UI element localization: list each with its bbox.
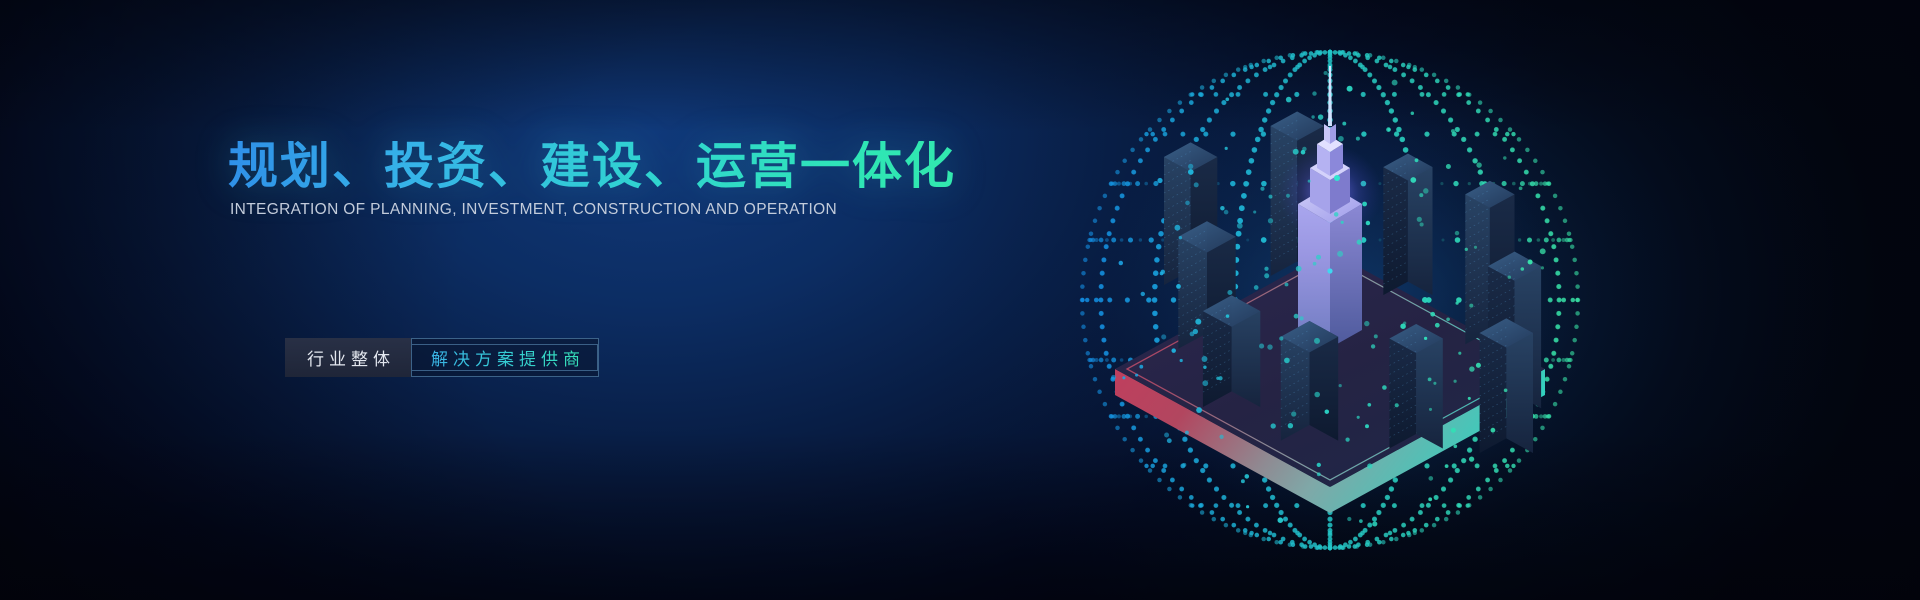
hero-text-block: 规划、投资、建设、运营一体化 INTEGRATION OF PLANNING, … — [228, 0, 1048, 600]
particle-dot — [1519, 186, 1523, 190]
particle-dot — [1284, 358, 1290, 364]
tower-face-right — [1330, 204, 1362, 348]
particle-dot — [1122, 376, 1125, 379]
particle-dot — [1269, 195, 1273, 199]
particle-dot — [1314, 338, 1320, 344]
particle-dot — [1302, 147, 1306, 151]
particle-dot — [1417, 217, 1422, 222]
particle-dot — [1196, 407, 1202, 413]
particle-dot — [1400, 323, 1406, 329]
particle-dot — [1227, 290, 1232, 295]
hero-banner: 规划、投资、建设、运营一体化 INTEGRATION OF PLANNING, … — [0, 0, 1920, 600]
tower-window-light — [1327, 268, 1332, 273]
particle-dot — [1423, 188, 1428, 193]
particle-dot — [1171, 348, 1176, 353]
particle-dot — [1279, 336, 1283, 340]
particle-dot — [1237, 223, 1243, 229]
particle-dot — [1469, 456, 1474, 461]
particle-dot — [1188, 164, 1193, 169]
particle-dot — [1194, 182, 1199, 187]
particle-dot — [1188, 169, 1194, 175]
particle-dot — [1365, 424, 1369, 428]
particle-dot — [1324, 71, 1328, 75]
particle-dot — [1296, 266, 1302, 272]
particle-dot — [1161, 270, 1165, 274]
particle-dot — [1469, 304, 1473, 308]
particle-dot — [1314, 392, 1320, 398]
particle-dot — [1285, 283, 1289, 287]
particle-dot — [1318, 114, 1323, 119]
particle-dot — [1317, 472, 1321, 476]
particle-dot — [1451, 129, 1455, 133]
particle-dot — [1465, 248, 1468, 251]
particle-dot — [1446, 164, 1451, 169]
particle-dot — [1317, 463, 1321, 467]
particle-dot — [1540, 248, 1546, 254]
particle-dot — [1225, 97, 1229, 101]
particle-dot — [1367, 403, 1371, 407]
particle-dot — [1372, 521, 1377, 526]
particle-dot — [1454, 380, 1457, 383]
particle-dot — [1367, 463, 1372, 468]
particle-dot — [1313, 262, 1317, 266]
particle-dot — [1182, 463, 1186, 467]
particle-dot — [1325, 409, 1329, 413]
particle-dot — [1224, 210, 1229, 215]
particle-dot — [1164, 433, 1169, 438]
particle-dot — [1176, 284, 1181, 289]
particle-dot — [1219, 435, 1223, 439]
particle-dot — [1428, 497, 1432, 501]
particle-dot — [1415, 158, 1419, 162]
particle-dot — [1476, 363, 1481, 368]
particle-dot — [1469, 366, 1474, 371]
particle-dot — [1175, 225, 1181, 231]
particle-dot — [1294, 314, 1299, 319]
particle-dot — [1428, 378, 1432, 382]
particle-dot — [1161, 334, 1166, 339]
particle-dot — [1341, 221, 1344, 224]
particle-dot — [1455, 301, 1458, 304]
particle-dot — [1364, 321, 1369, 326]
skyscraper — [1203, 295, 1260, 407]
particle-dot — [1359, 519, 1363, 523]
particle-dot — [1264, 273, 1269, 278]
particle-dot — [1342, 122, 1346, 126]
particle-dot — [1362, 202, 1367, 207]
particle-dot — [1141, 292, 1145, 296]
particle-dot — [1347, 86, 1353, 92]
particle-dot — [1371, 344, 1375, 348]
particle-dot — [1345, 437, 1349, 441]
particle-dot — [1458, 352, 1461, 355]
particle-dot — [1366, 221, 1370, 225]
particle-dot — [1203, 366, 1206, 369]
particle-dot — [1193, 329, 1198, 334]
particle-dot — [1451, 428, 1456, 433]
particle-dot — [1260, 187, 1264, 191]
particle-dot — [1185, 431, 1189, 435]
particle-dot — [1226, 314, 1230, 318]
particle-dot — [1271, 423, 1276, 428]
tagline-right-frame: 解决方案提供商 — [411, 338, 599, 377]
particle-dot — [1195, 319, 1201, 325]
particle-dot — [1185, 201, 1190, 206]
particle-dot — [1410, 177, 1416, 183]
particle-dot — [1111, 375, 1116, 380]
smart-city-illustration — [965, 18, 1695, 583]
particle-dot — [1202, 380, 1208, 386]
particle-dot — [1419, 193, 1423, 197]
particle-dot — [1267, 344, 1272, 349]
particle-dot — [1157, 178, 1162, 183]
particle-dot — [1374, 334, 1378, 338]
particle-dot — [1424, 337, 1427, 340]
particle-dot — [1218, 376, 1222, 380]
particle-dot — [1357, 416, 1360, 419]
particle-dot — [1311, 115, 1314, 118]
particle-dot — [1259, 344, 1264, 349]
particle-dot — [1288, 423, 1293, 428]
particle-dot — [1521, 267, 1525, 271]
particle-dot — [1316, 255, 1321, 260]
particle-dot — [1202, 356, 1208, 362]
particle-dot — [1264, 267, 1268, 271]
skyscraper — [1383, 154, 1432, 296]
particle-dot — [1508, 275, 1511, 278]
particle-dot — [1528, 260, 1533, 265]
particle-dot — [1278, 517, 1284, 523]
particle-dot — [1430, 312, 1435, 317]
particle-dot — [1504, 388, 1508, 392]
particle-dot — [1246, 505, 1249, 508]
particle-dot — [1254, 285, 1259, 290]
particle-dot — [1503, 156, 1506, 159]
particle-dot — [1268, 218, 1273, 223]
particle-dot — [1241, 479, 1245, 483]
tower-accent-light — [1334, 175, 1340, 181]
particle-dot — [1286, 194, 1290, 198]
particle-dot — [1446, 317, 1450, 321]
particle-dot — [1435, 323, 1440, 328]
skyscraper — [1480, 318, 1533, 453]
particle-dot — [1308, 180, 1311, 183]
particle-dot — [1433, 382, 1436, 385]
particle-dot — [1453, 444, 1457, 448]
particle-dot — [1293, 149, 1299, 155]
particle-dot — [1395, 403, 1399, 407]
particle-dot — [1356, 137, 1360, 141]
particle-dot — [1139, 365, 1143, 369]
particle-dot — [1382, 385, 1387, 390]
particle-dot — [1167, 438, 1172, 443]
particle-dot — [1420, 222, 1424, 226]
particle-dot — [1455, 231, 1459, 235]
tagline-right-text: 解决方案提供商 — [412, 344, 598, 371]
particle-dot — [1334, 212, 1339, 217]
particle-dot — [1291, 411, 1296, 416]
particle-dot — [1428, 476, 1433, 481]
particle-dot — [1253, 210, 1256, 213]
particle-dot — [1337, 251, 1343, 257]
skyscraper — [1281, 321, 1338, 441]
particle-dot — [1474, 246, 1477, 249]
particle-dot — [1468, 397, 1471, 400]
particle-dot — [1245, 474, 1250, 479]
particle-dot — [1347, 517, 1351, 521]
particle-dot — [1476, 162, 1481, 167]
particle-dot — [1220, 206, 1225, 211]
particle-dot — [1180, 359, 1183, 362]
page-title: 规划、投资、建设、运营一体化 — [228, 141, 956, 191]
tagline-left-text: 行业整体 — [285, 338, 411, 377]
particle-dot — [1392, 80, 1398, 86]
particle-dot — [1135, 374, 1138, 377]
particle-dot — [1179, 236, 1182, 239]
particle-dot — [1386, 127, 1391, 132]
particle-dot — [1312, 91, 1316, 95]
particle-dot — [1541, 266, 1544, 269]
tagline-badge: 行业整体 解决方案提供商 — [285, 338, 599, 377]
particle-dot — [1338, 136, 1344, 142]
particle-dot — [1119, 261, 1123, 265]
particle-dot — [1411, 112, 1415, 116]
particle-dot — [1429, 408, 1432, 411]
particle-dot — [1225, 147, 1228, 150]
particle-dot — [1445, 464, 1449, 468]
particle-dot — [1286, 97, 1292, 103]
particle-dot — [1339, 384, 1342, 387]
particle-dot — [1300, 316, 1304, 320]
skyscraper — [1389, 324, 1442, 449]
page-subtitle: INTEGRATION OF PLANNING, INVESTMENT, CON… — [230, 201, 837, 219]
particle-dot — [1491, 428, 1496, 433]
particle-dot — [1357, 240, 1362, 245]
